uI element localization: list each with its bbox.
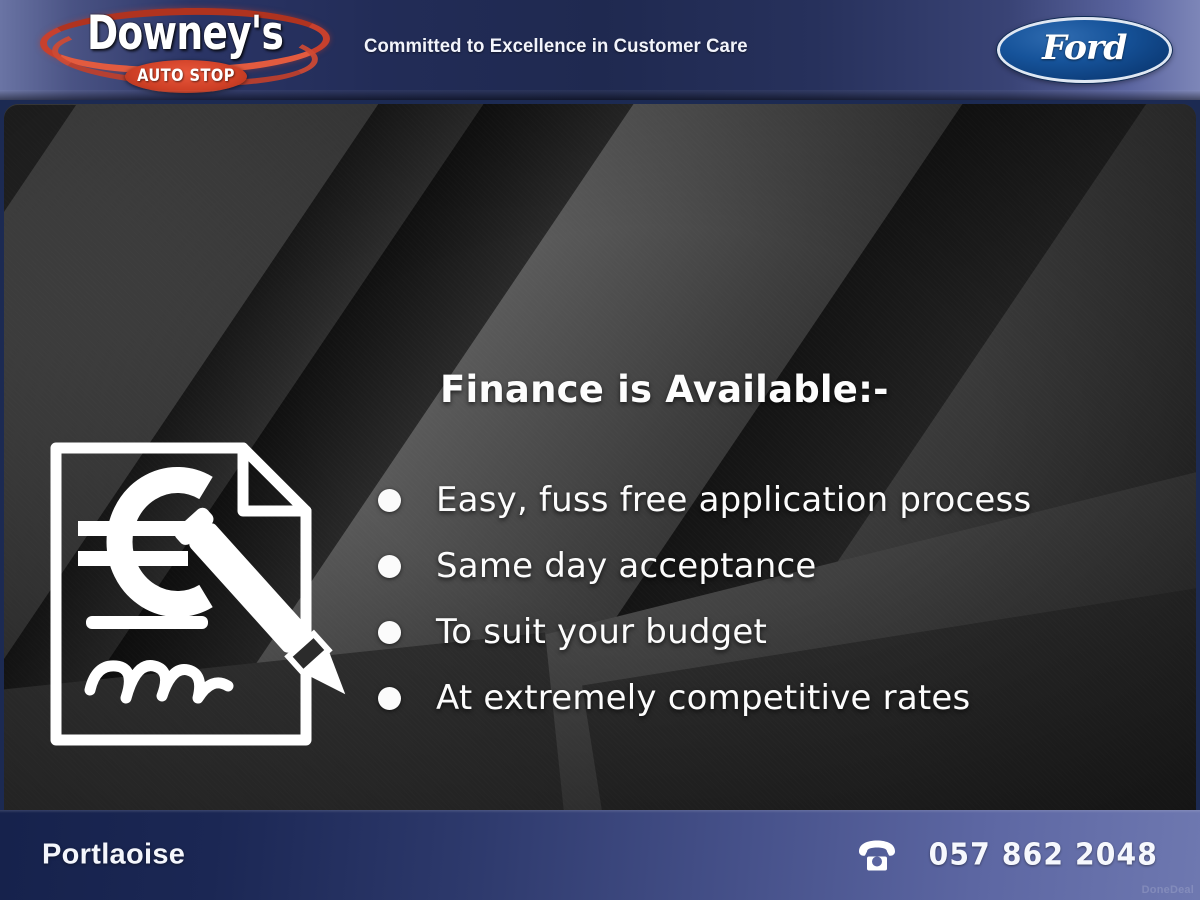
- header-bar: Downey's AUTO STOP Committed to Excellen…: [0, 0, 1200, 100]
- logo-brand-sub: AUTO STOP: [134, 64, 239, 88]
- header-tagline: Committed to Excellence in Customer Care: [364, 35, 748, 58]
- footer-bar: Portlaoise 057 862 2048 DoneDeal: [0, 810, 1200, 900]
- logo-brand-name: Downey's: [61, 8, 309, 60]
- bullet-dot-icon: [378, 687, 401, 710]
- dealer-location: Portlaoise: [42, 839, 185, 872]
- list-item-label: Same day acceptance: [436, 546, 816, 586]
- advertisement-banner: Downey's AUTO STOP Committed to Excellen…: [0, 0, 1200, 900]
- finance-document-signature-icon: [38, 434, 358, 754]
- bullet-dot-icon: [378, 621, 401, 644]
- list-item: Easy, fuss free application process: [378, 467, 1178, 533]
- list-item-label: To suit your budget: [436, 612, 767, 652]
- finance-benefits-list: Easy, fuss free application process Same…: [378, 467, 1178, 731]
- list-item: At extremely competitive rates: [378, 665, 1178, 731]
- main-panel: Finance is Available:- Easy, fuss free a…: [4, 104, 1196, 810]
- bullet-dot-icon: [378, 489, 401, 512]
- source-watermark: DoneDeal: [1142, 884, 1194, 896]
- ford-logo[interactable]: Ford: [997, 17, 1172, 83]
- phone-number: 057 862 2048: [929, 838, 1158, 873]
- ford-logo-text: Ford: [1042, 28, 1126, 68]
- downeys-logo[interactable]: Downey's AUTO STOP: [30, 2, 340, 98]
- list-item-label: Easy, fuss free application process: [436, 480, 1031, 520]
- bullet-dot-icon: [378, 555, 401, 578]
- list-item-label: At extremely competitive rates: [436, 678, 970, 718]
- page-title: Finance is Available:-: [440, 368, 889, 411]
- contact-phone[interactable]: 057 862 2048: [856, 838, 1158, 873]
- list-item: To suit your budget: [378, 599, 1178, 665]
- list-item: Same day acceptance: [378, 533, 1178, 599]
- telephone-icon: [856, 839, 898, 871]
